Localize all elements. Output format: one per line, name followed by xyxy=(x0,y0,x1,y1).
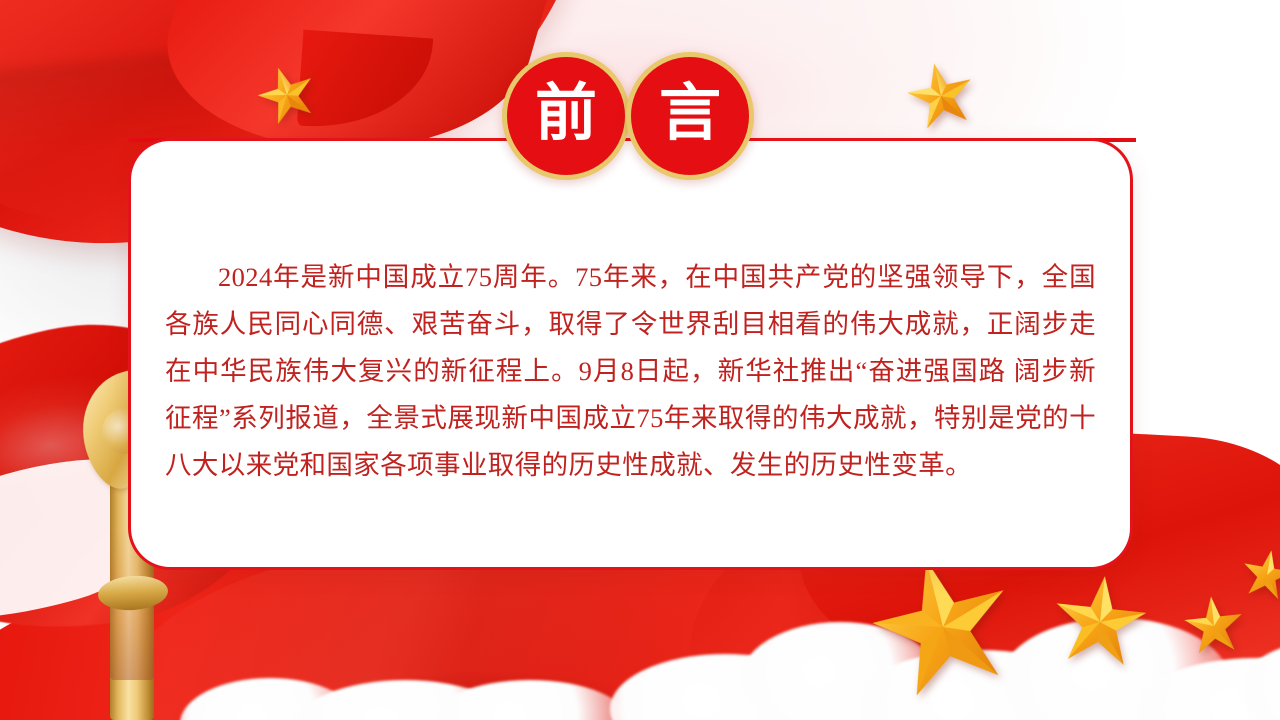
preface-paragraph: 2024年是新中国成立75周年。75年来，在中国共产党的坚强领导下，全国各族人民… xyxy=(165,254,1096,489)
star-bottom-tiny-icon xyxy=(1236,544,1280,607)
title-char-first: 前 xyxy=(535,83,597,145)
content-card: 2024年是新中国成立75周年。75年来，在中国共产党的坚强领导下，全国各族人民… xyxy=(128,138,1133,570)
title-char-second: 言 xyxy=(659,83,721,145)
star-bottom-mid-icon xyxy=(1045,567,1155,677)
cloud-bank-left xyxy=(180,620,640,720)
page-title: 前 言 xyxy=(500,52,760,188)
star-top-right-icon xyxy=(898,53,983,138)
star-bottom-small-icon xyxy=(1179,591,1249,661)
slide-canvas: 2024年是新中国成立75周年。75年来，在中国共产党的坚强领导下，全国各族人民… xyxy=(0,0,1280,720)
title-circle-first: 前 xyxy=(502,52,630,180)
title-circle-second: 言 xyxy=(626,52,754,180)
